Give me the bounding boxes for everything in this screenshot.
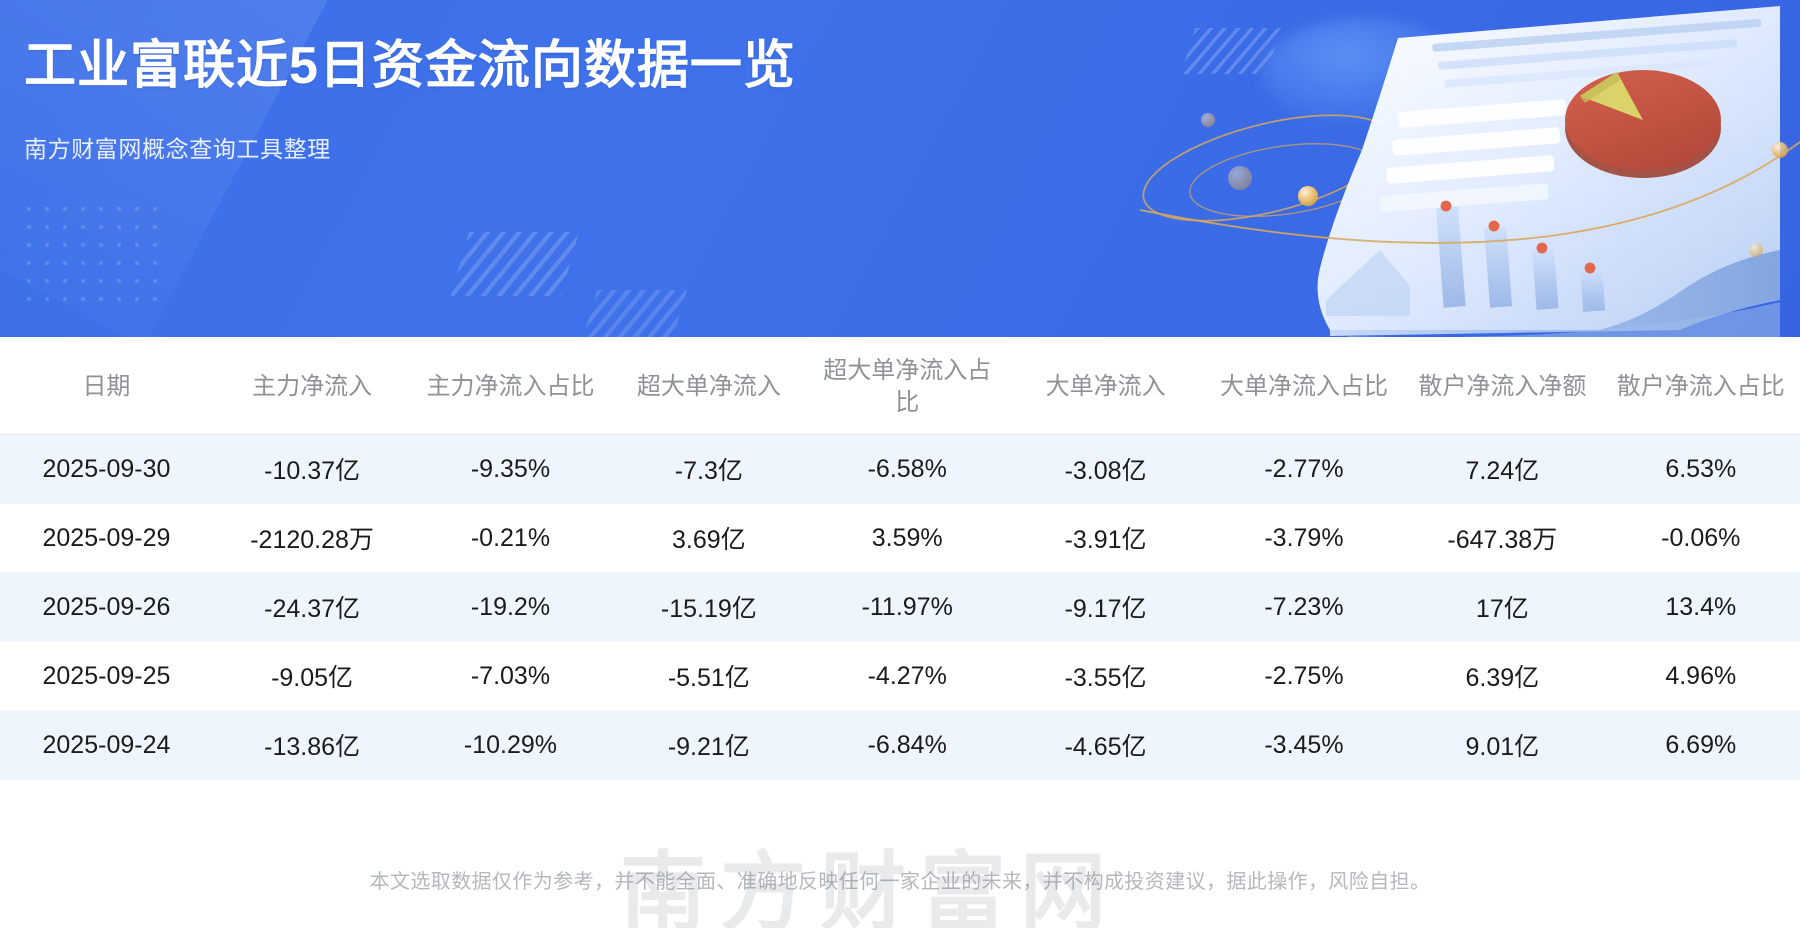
table-header-row: 日期 主力净流入 主力净流入占比 超大单净流入 超大单净流入占比 大单净流入 大… — [0, 337, 1800, 435]
cell-retail-pct: 6.53% — [1602, 435, 1800, 504]
table-row: 2025-09-30 -10.37亿 -9.35% -7.3亿 -6.58% -… — [0, 435, 1800, 504]
banner-dot-pattern-left — [20, 200, 160, 310]
orbit-bead-lower — [1749, 243, 1763, 257]
cell-lg-pct: -2.75% — [1205, 642, 1403, 711]
cell-lg-net: -3.91亿 — [1006, 504, 1204, 573]
cell-main-net: -2120.28万 — [213, 504, 411, 573]
cell-xl-net: -7.3亿 — [610, 435, 808, 504]
table-row: 2025-09-29 -2120.28万 -0.21% 3.69亿 3.59% … — [0, 504, 1800, 573]
fund-flow-table: 日期 主力净流入 主力净流入占比 超大单净流入 超大单净流入占比 大单净流入 大… — [0, 337, 1800, 780]
column-header-date: 日期 — [0, 337, 213, 435]
page-footer: 本文选取数据仅作为参考，并不能全面、准确地反映任何一家企业的未来，并不构成投资建… — [0, 865, 1800, 928]
cell-retail-net: 6.39亿 — [1403, 642, 1601, 711]
cell-main-net: -13.86亿 — [213, 711, 411, 780]
orbit-bead-blurred — [1228, 166, 1252, 190]
page-subtitle: 南方财富网概念查询工具整理 — [24, 130, 796, 164]
cell-xl-net: 3.69亿 — [610, 504, 808, 573]
banner-stripe-pattern-a — [451, 232, 579, 296]
table-row: 2025-09-25 -9.05亿 -7.03% -5.51亿 -4.27% -… — [0, 642, 1800, 711]
cell-date: 2025-09-29 — [0, 504, 213, 573]
column-header-lg-pct: 大单净流入占比 — [1205, 337, 1403, 435]
cell-xl-net: -15.19亿 — [610, 573, 808, 642]
banner-text-block: 工业富联近5日资金流向数据一览 南方财富网概念查询工具整理 — [24, 36, 796, 164]
cell-retail-net: 17亿 — [1403, 573, 1601, 642]
cell-retail-net: 7.24亿 — [1403, 435, 1601, 504]
cell-main-net: -10.37亿 — [213, 435, 411, 504]
cell-xl-pct: -6.58% — [808, 435, 1006, 504]
bar-marker-dot — [1441, 201, 1452, 212]
cell-retail-pct: 4.96% — [1602, 642, 1800, 711]
cell-xl-pct: -11.97% — [808, 573, 1006, 642]
cell-date: 2025-09-26 — [0, 573, 213, 642]
cell-retail-pct: 13.4% — [1602, 573, 1800, 642]
cell-main-net: -24.37亿 — [213, 573, 411, 642]
orbit-bead — [1298, 186, 1318, 206]
column-header-main-pct: 主力净流入占比 — [411, 337, 609, 435]
page-root: 工业富联近5日资金流向数据一览 南方财富网概念查询工具整理 — [0, 0, 1800, 928]
cell-xl-net: -9.21亿 — [610, 711, 808, 780]
banner-stripe-pattern-b — [583, 290, 687, 337]
cell-xl-pct: -4.27% — [808, 642, 1006, 711]
cell-main-pct: -7.03% — [411, 642, 609, 711]
orbit-bead-upper — [1201, 113, 1215, 127]
cell-main-pct: -10.29% — [411, 711, 609, 780]
disclaimer-text: 本文选取数据仅作为参考，并不能全面、准确地反映任何一家企业的未来，并不构成投资建… — [0, 865, 1800, 894]
table-header: 日期 主力净流入 主力净流入占比 超大单净流入 超大单净流入占比 大单净流入 大… — [0, 337, 1800, 435]
bar-marker-dot — [1585, 263, 1596, 274]
table-body: 2025-09-30 -10.37亿 -9.35% -7.3亿 -6.58% -… — [0, 435, 1800, 780]
page-banner: 工业富联近5日资金流向数据一览 南方财富网概念查询工具整理 — [0, 0, 1800, 337]
cell-lg-pct: -2.77% — [1205, 435, 1403, 504]
cell-retail-net: -647.38万 — [1403, 504, 1601, 573]
orbit-bead-right — [1772, 142, 1788, 158]
cell-xl-net: -5.51亿 — [610, 642, 808, 711]
cell-xl-pct: -6.84% — [808, 711, 1006, 780]
cell-lg-pct: -3.45% — [1205, 711, 1403, 780]
bar-marker-dot — [1489, 221, 1500, 232]
cell-retail-net: 9.01亿 — [1403, 711, 1601, 780]
bar-marker-dot — [1537, 243, 1548, 254]
report-chart-illustration — [1080, 0, 1800, 337]
cell-lg-pct: -7.23% — [1205, 573, 1403, 642]
pie-chart-graphic — [1565, 70, 1721, 178]
column-header-lg-net: 大单净流入 — [1006, 337, 1204, 435]
cell-date: 2025-09-30 — [0, 435, 213, 504]
fund-flow-table-container: 南方财富网 Southmoney.com 日期 主力净流入 主力净流入占比 超大… — [0, 337, 1800, 780]
column-header-retail-pct: 散户净流入占比 — [1602, 337, 1800, 435]
column-header-retail-net: 散户净流入净额 — [1403, 337, 1601, 435]
cell-lg-net: -9.17亿 — [1006, 573, 1204, 642]
table-row: 2025-09-26 -24.37亿 -19.2% -15.19亿 -11.97… — [0, 573, 1800, 642]
table-row: 2025-09-24 -13.86亿 -10.29% -9.21亿 -6.84%… — [0, 711, 1800, 780]
cell-main-pct: -19.2% — [411, 573, 609, 642]
column-header-xl-net: 超大单净流入 — [610, 337, 808, 435]
column-header-xl-pct: 超大单净流入占比 — [808, 337, 1006, 435]
cell-lg-net: -4.65亿 — [1006, 711, 1204, 780]
cell-lg-net: -3.55亿 — [1006, 642, 1204, 711]
cell-date: 2025-09-24 — [0, 711, 213, 780]
cell-retail-pct: 6.69% — [1602, 711, 1800, 780]
cell-retail-pct: -0.06% — [1602, 504, 1800, 573]
cell-lg-pct: -3.79% — [1205, 504, 1403, 573]
cell-date: 2025-09-25 — [0, 642, 213, 711]
column-header-main-net: 主力净流入 — [213, 337, 411, 435]
cell-xl-pct: 3.59% — [808, 504, 1006, 573]
cell-main-pct: -9.35% — [411, 435, 609, 504]
cell-main-net: -9.05亿 — [213, 642, 411, 711]
cell-main-pct: -0.21% — [411, 504, 609, 573]
page-title: 工业富联近5日资金流向数据一览 — [24, 36, 796, 96]
cell-lg-net: -3.08亿 — [1006, 435, 1204, 504]
